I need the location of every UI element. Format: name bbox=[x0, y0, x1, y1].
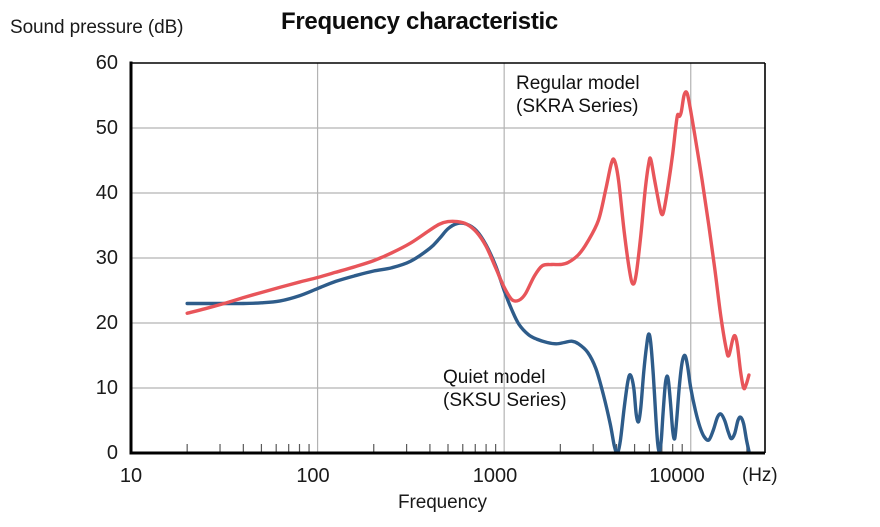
frequency-characteristic-chart: Sound pressure (dB) Frequency characteri… bbox=[0, 0, 880, 527]
plot-area bbox=[0, 0, 880, 527]
curve-regular-model bbox=[187, 92, 749, 389]
data-curves bbox=[187, 92, 749, 453]
